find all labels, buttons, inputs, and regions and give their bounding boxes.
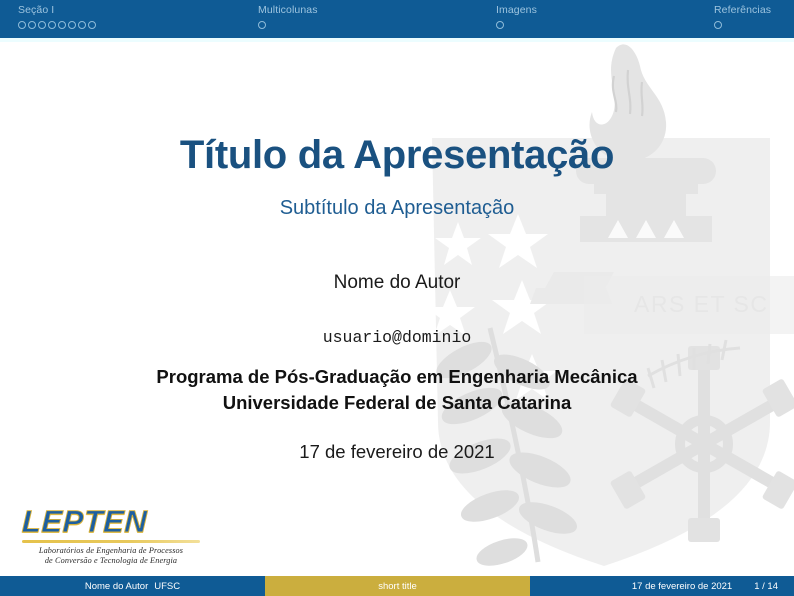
nav-section-referencias[interactable]: Referências bbox=[696, 0, 794, 38]
nav-section-multicolunas[interactable]: Multicolunas bbox=[240, 0, 478, 38]
nav-section-imagens[interactable]: Imagens bbox=[478, 0, 696, 38]
nav-frame-dot[interactable] bbox=[48, 21, 56, 29]
footer-institute-short: UFSC bbox=[154, 581, 180, 592]
footer-title-segment[interactable]: short title bbox=[265, 576, 530, 596]
lepten-logo: LEPTEN Laboratórios de Engenharia de Pro… bbox=[22, 505, 212, 569]
footer-page-number: 1 / 14 bbox=[754, 581, 778, 592]
title-slide-body: Título da Apresentação Subtítulo da Apre… bbox=[0, 42, 794, 576]
nav-frame-dot[interactable] bbox=[18, 21, 26, 29]
section-navigation-bar: Seção I Multicolunas Imagens Referências bbox=[0, 0, 794, 38]
lepten-tagline-line1: Laboratórios de Engenharia de Processos bbox=[22, 546, 200, 557]
nav-frame-dots bbox=[496, 21, 696, 29]
nav-frame-dot[interactable] bbox=[88, 21, 96, 29]
footer-author-name: Nome do Autor bbox=[85, 581, 148, 592]
nav-section-secao-i[interactable]: Seção I bbox=[0, 0, 240, 38]
nav-section-label: Referências bbox=[714, 4, 794, 17]
footer-author-segment[interactable]: Nome do Autor UFSC bbox=[0, 576, 265, 596]
footer-date-page-segment[interactable]: 17 de fevereiro de 2021 1 / 14 bbox=[530, 576, 794, 596]
nav-frame-dot[interactable] bbox=[58, 21, 66, 29]
nav-frame-dot[interactable] bbox=[258, 21, 266, 29]
nav-frame-dot[interactable] bbox=[496, 21, 504, 29]
nav-frame-dots bbox=[714, 21, 794, 29]
institute-program-line: Programa de Pós-Graduação em Engenharia … bbox=[0, 364, 794, 390]
author-email: usuario@dominio bbox=[0, 327, 794, 349]
lepten-tagline-line2: de Conversão e Tecnologia de Energia bbox=[22, 556, 200, 567]
institute-university-line: Universidade Federal de Santa Catarina bbox=[0, 390, 794, 416]
presentation-subtitle: Subtítulo da Apresentação bbox=[0, 195, 794, 221]
lepten-logo-rule bbox=[22, 540, 200, 543]
footer-short-title: short title bbox=[378, 581, 417, 592]
nav-frame-dot[interactable] bbox=[714, 21, 722, 29]
nav-section-label: Multicolunas bbox=[258, 4, 478, 17]
institute-block: Programa de Pós-Graduação em Engenharia … bbox=[0, 364, 794, 416]
author-name: Nome do Autor bbox=[0, 270, 794, 295]
footer-date: 17 de fevereiro de 2021 bbox=[632, 581, 732, 592]
nav-frame-dot[interactable] bbox=[68, 21, 76, 29]
nav-frame-dot[interactable] bbox=[38, 21, 46, 29]
nav-section-label: Imagens bbox=[496, 4, 696, 17]
nav-frame-dots bbox=[18, 21, 240, 29]
nav-frame-dot[interactable] bbox=[78, 21, 86, 29]
nav-section-label: Seção I bbox=[18, 4, 240, 17]
presentation-date: 17 de fevereiro de 2021 bbox=[0, 440, 794, 464]
presentation-title: Título da Apresentação bbox=[0, 131, 794, 179]
slide-footer-bar: Nome do Autor UFSC short title 17 de fev… bbox=[0, 576, 794, 596]
nav-frame-dots bbox=[258, 21, 478, 29]
lepten-wordmark: LEPTEN bbox=[21, 505, 147, 539]
nav-frame-dot[interactable] bbox=[28, 21, 36, 29]
